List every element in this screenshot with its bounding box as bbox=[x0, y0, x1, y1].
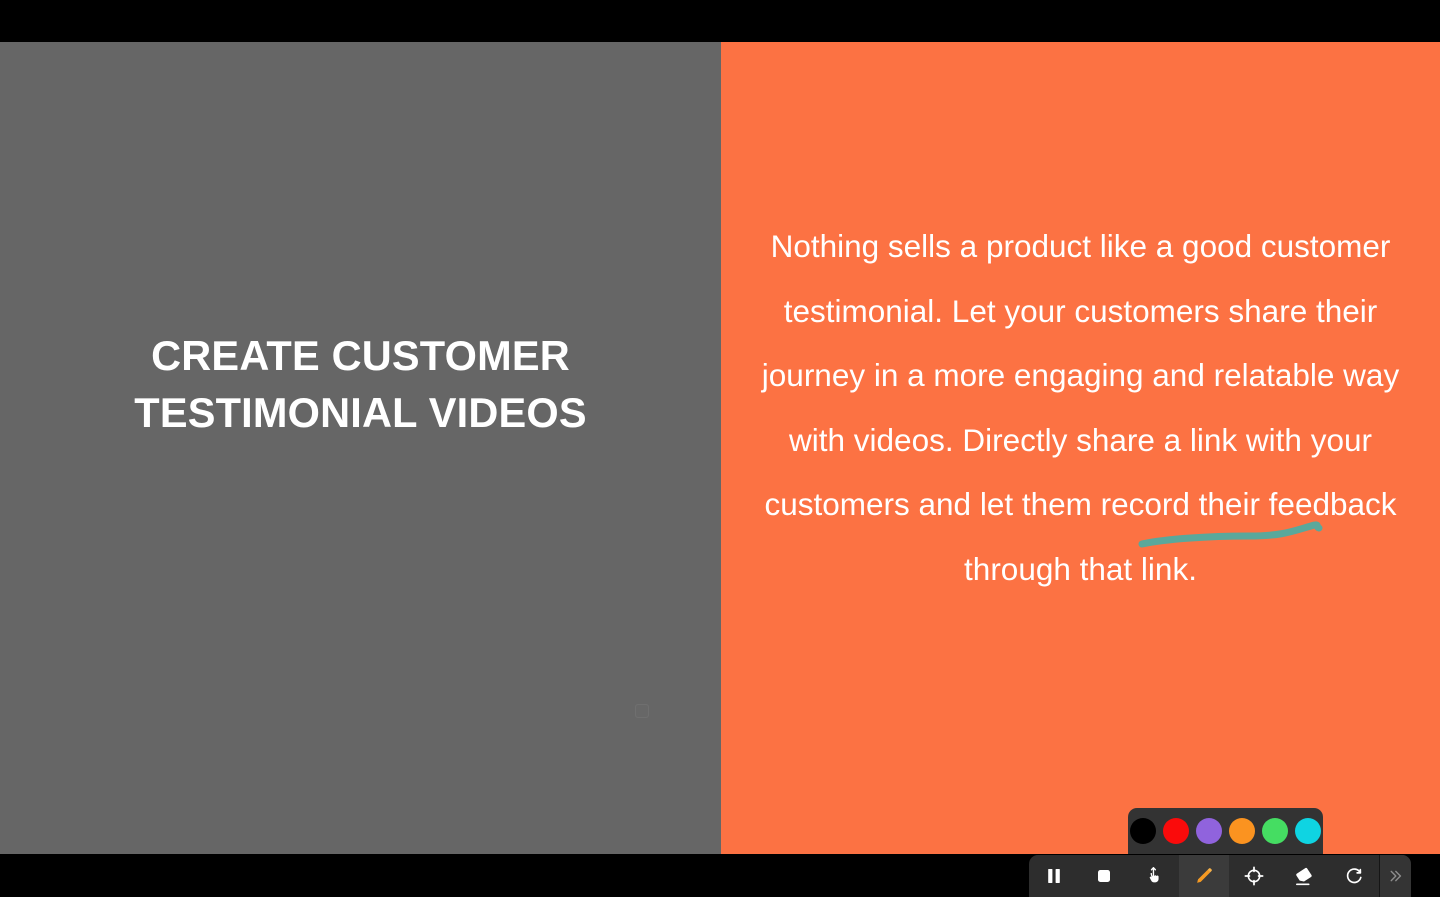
double-chevron-right-icon bbox=[1385, 866, 1405, 886]
toolbar-button-group bbox=[1029, 855, 1379, 897]
stop-button[interactable] bbox=[1079, 855, 1129, 897]
pencil-tool-button[interactable] bbox=[1179, 855, 1229, 897]
color-swatch-cyan[interactable] bbox=[1295, 818, 1321, 844]
pencil-icon bbox=[1193, 865, 1215, 887]
pause-icon bbox=[1044, 866, 1064, 886]
slide-left-panel: CREATE CUSTOMER TESTIMONIAL VIDEOS bbox=[0, 42, 721, 854]
spotlight-button[interactable] bbox=[1229, 855, 1279, 897]
crosshair-icon bbox=[1243, 865, 1265, 887]
screen-recording-window: CREATE CUSTOMER TESTIMONIAL VIDEOS Nothi… bbox=[0, 0, 1440, 897]
reset-button[interactable] bbox=[1329, 855, 1379, 897]
ghost-marker-dot bbox=[635, 704, 649, 718]
eraser-icon bbox=[1293, 865, 1316, 888]
stop-icon bbox=[1094, 866, 1114, 886]
color-swatch-purple[interactable] bbox=[1196, 818, 1222, 844]
slide-right-panel: Nothing sells a product like a good cust… bbox=[721, 42, 1440, 854]
hand-pointer-icon bbox=[1143, 865, 1165, 887]
cursor-tool-button[interactable] bbox=[1129, 855, 1179, 897]
slide-body-text: Nothing sells a product like a good cust… bbox=[761, 214, 1401, 601]
page-title: CREATE CUSTOMER TESTIMONIAL VIDEOS bbox=[41, 327, 681, 441]
color-swatch-green[interactable] bbox=[1262, 818, 1288, 844]
refresh-icon bbox=[1343, 865, 1365, 887]
color-palette-popup[interactable] bbox=[1128, 808, 1323, 854]
pause-button[interactable] bbox=[1029, 855, 1079, 897]
color-swatch-red[interactable] bbox=[1163, 818, 1189, 844]
slide-stage: CREATE CUSTOMER TESTIMONIAL VIDEOS Nothi… bbox=[0, 42, 1440, 854]
color-swatch-orange[interactable] bbox=[1229, 818, 1255, 844]
color-swatch-black[interactable] bbox=[1130, 818, 1156, 844]
eraser-button[interactable] bbox=[1279, 855, 1329, 897]
expand-button[interactable] bbox=[1380, 855, 1411, 897]
recorder-toolbar bbox=[1029, 855, 1411, 897]
